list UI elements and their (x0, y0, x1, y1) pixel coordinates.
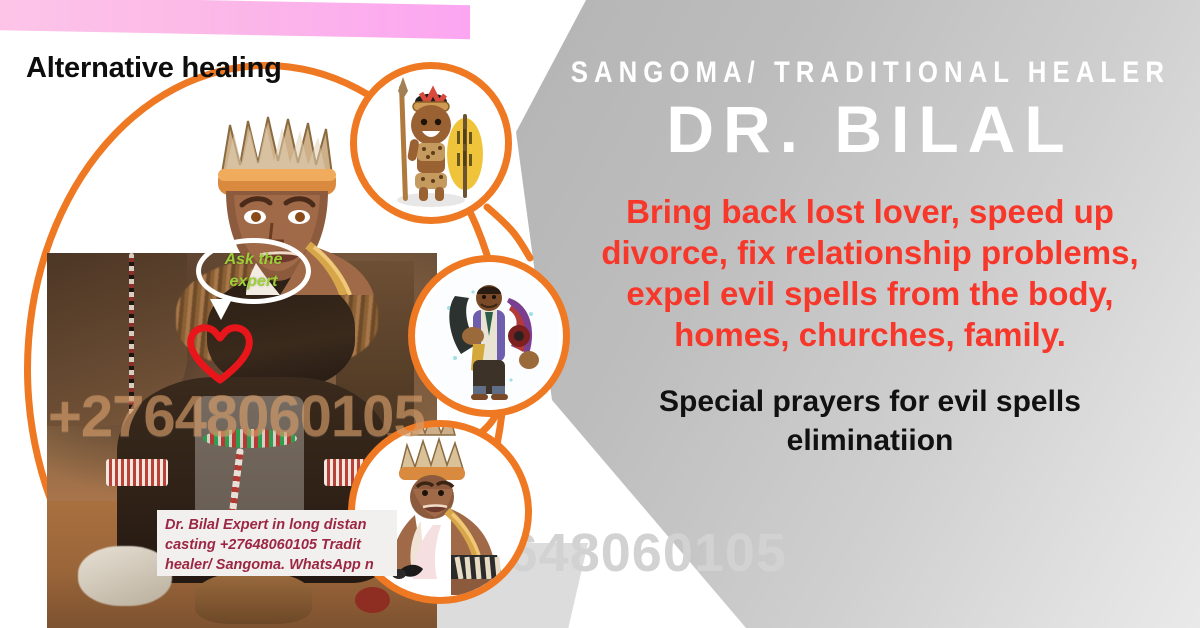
bubble-line-1: Ask the (225, 249, 283, 271)
armband-left (106, 459, 168, 485)
photo-caption-box: Dr. Bilal Expert in long distan casting … (157, 510, 397, 576)
photo-watermark-phone: +27648060105 (48, 383, 438, 450)
special-prayers-text: Special prayers for evil spells eliminat… (580, 382, 1160, 460)
zulu-warrior-child-illustration-icon (350, 62, 512, 224)
brand-name: DR. BILAL (666, 96, 1073, 162)
service-kicker: SANGOMA/ TRADITIONAL HEALER (570, 58, 1169, 88)
speech-bubble-icon: Ask the expert (196, 238, 311, 304)
pink-accent-band (0, 0, 470, 39)
poster-canvas: Alternative healing (0, 0, 1200, 628)
services-description: Bring back lost lover, speed up divorce,… (570, 192, 1170, 356)
heart-outline-icon (186, 322, 254, 384)
bowl-shape (195, 572, 312, 625)
speech-bubble-text: Ask the expert (196, 238, 311, 304)
bubble-line-2: expert (229, 271, 277, 293)
red-object-shape (355, 587, 390, 613)
page-title: Alternative healing (26, 52, 282, 85)
